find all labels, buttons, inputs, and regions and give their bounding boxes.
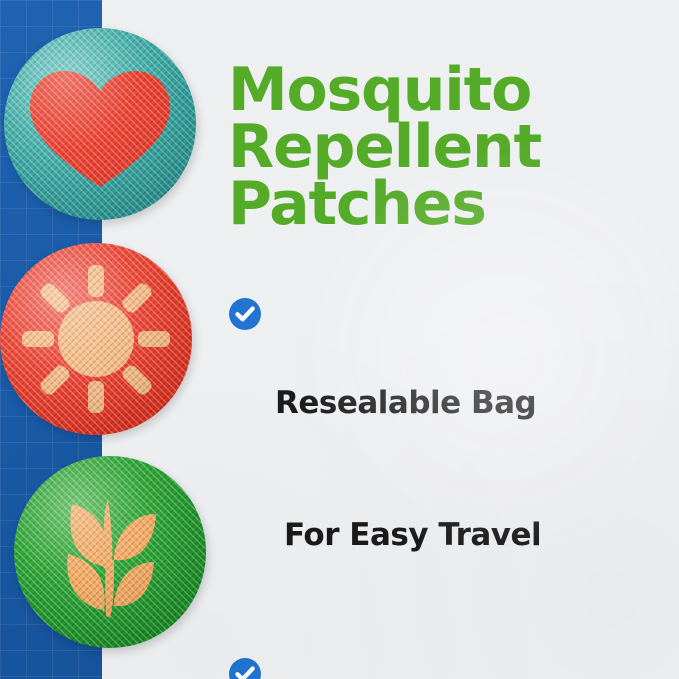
title-line-3: Patches [228,176,678,233]
feature-item-resealable-bag: Resealable Bag For Easy Travel [224,293,679,645]
patch-heart [4,28,196,220]
feature-item-78-pack-deet-free: 78 Pack Deet Free Mosquito Incense [224,653,679,679]
feature-line-1: Resealable Bag [275,381,679,425]
product-feature-image: Mosquito Repellent Patches Resealable Ba… [0,0,679,679]
check-circle-icon [228,297,262,331]
title-line-2: Repellent [228,119,678,176]
patch-plant [14,456,206,648]
feature-text: Resealable Bag For Easy Travel [224,293,679,645]
title-line-1: Mosquito [228,62,678,119]
patch-sun [0,243,192,435]
feature-text: 78 Pack Deet Free Mosquito Incense [224,653,679,679]
plant-icon [14,456,206,648]
feature-line-2: For Easy Travel [275,513,679,557]
content-column: Mosquito Repellent Patches Resealable Ba… [224,0,679,679]
feature-list: Resealable Bag For Easy Travel 78 Pack D… [224,293,679,679]
sun-icon [0,243,192,435]
check-circle-icon [228,657,262,679]
heart-icon [4,28,196,220]
page-title: Mosquito Repellent Patches [228,62,678,233]
